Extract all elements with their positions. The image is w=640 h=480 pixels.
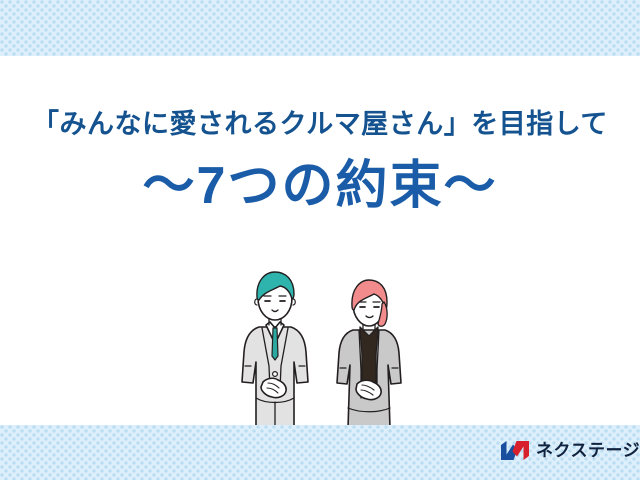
headline-line-2: 〜7つの約束〜: [0, 154, 640, 219]
male-staff-figure: [242, 272, 308, 428]
headline-block: 「みんなに愛されるクルマ屋さん」を目指して 〜7つの約束〜: [0, 108, 640, 219]
nextage-n-mark: [500, 440, 530, 461]
promise-banner: 「みんなに愛されるクルマ屋さん」を目指して 〜7つの約束〜: [0, 0, 640, 480]
female-staff-figure: [337, 280, 401, 428]
logo-wordmark: ネクステージ: [536, 442, 640, 459]
top-dot-band: [0, 0, 640, 56]
staff-illustration: [236, 270, 416, 428]
headline-line-1: 「みんなに愛されるクルマ屋さん」を目指して: [0, 108, 640, 140]
brand-logo: ネクステージ: [500, 440, 640, 461]
